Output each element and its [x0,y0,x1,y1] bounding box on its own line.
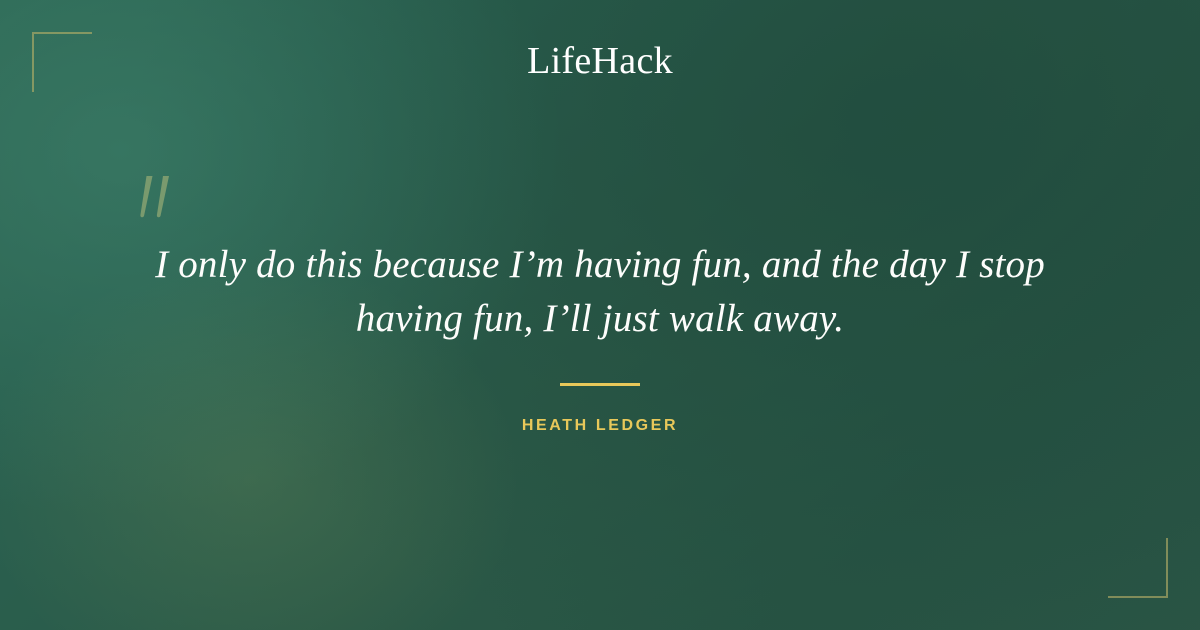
author-name: HEATH LEDGER [0,417,1200,435]
quote-card: LifeHack I only do this because I’m havi… [0,0,1200,630]
quote-line-2: having fun, I’ll just walk away. [100,292,1100,346]
corner-bracket-icon-bottom-right [1108,538,1168,598]
divider [560,383,640,386]
brand-logo: LifeHack [0,38,1200,84]
quote-block: I only do this because I’m having fun, a… [100,238,1100,346]
double-quote-icon [133,176,179,218]
quote-line-1: I only do this because I’m having fun, a… [100,238,1100,292]
